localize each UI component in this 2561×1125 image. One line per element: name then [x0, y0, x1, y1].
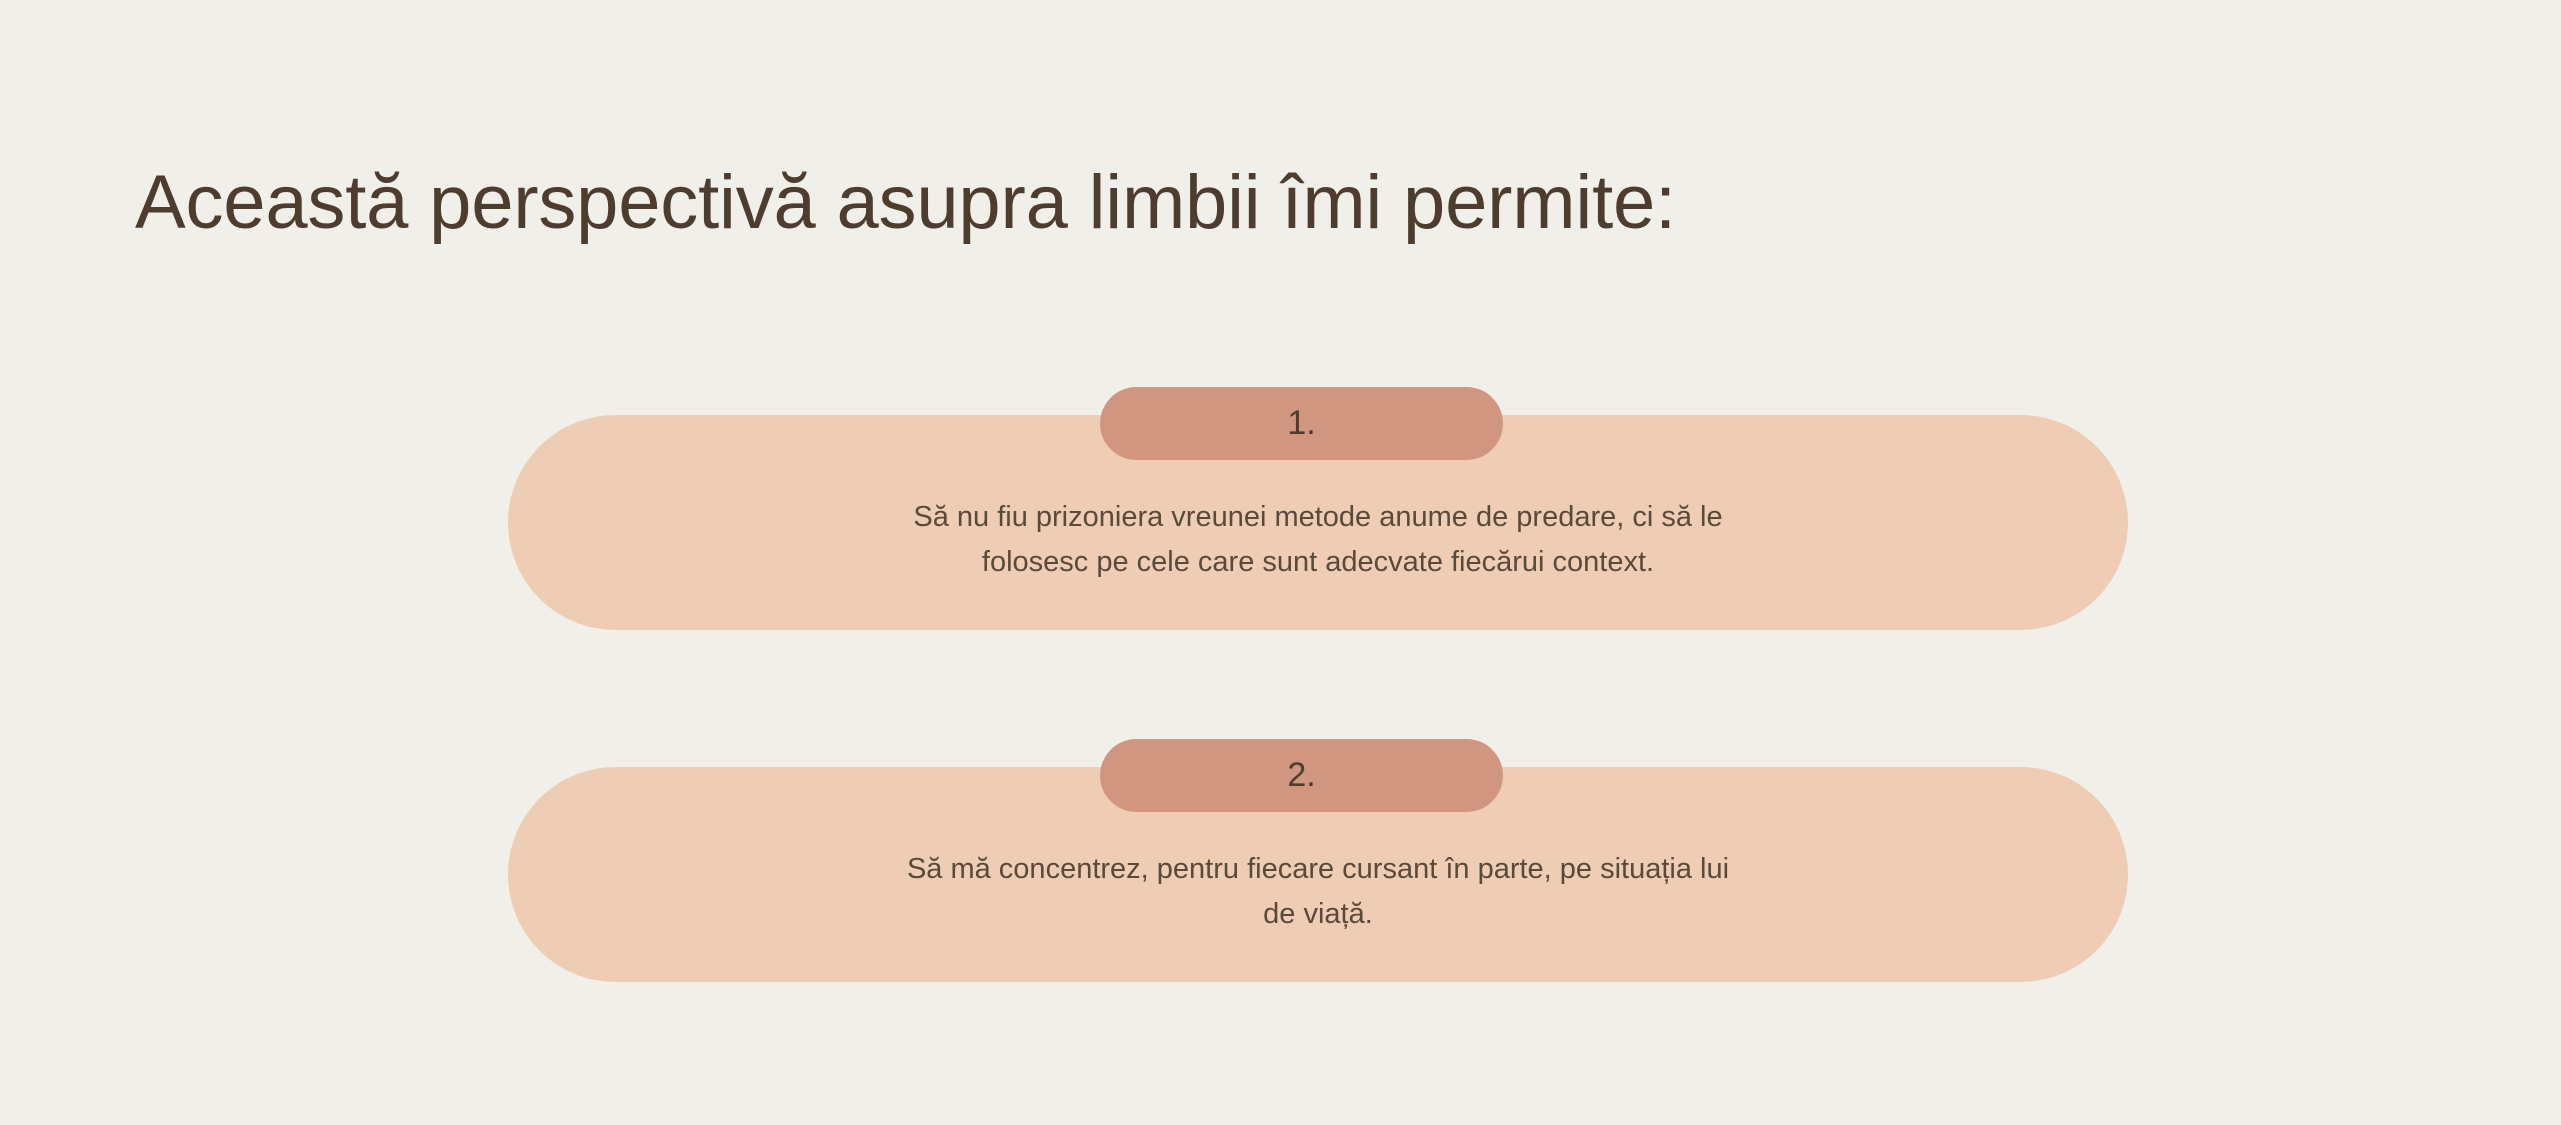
card-text-1: Să nu fiu prizoniera vreunei metode anum…	[788, 461, 1848, 583]
card-number-label-2: 2.	[1287, 758, 1315, 794]
numbered-card-list: Să nu fiu prizoniera vreunei metode anum…	[0, 0, 2561, 1125]
card-number-badge-2: 2.	[1100, 739, 1503, 812]
card-number-badge-1: 1.	[1100, 387, 1503, 460]
card-number-label-1: 1.	[1287, 406, 1315, 442]
card-text-2: Să mă concentrez, pentru fiecare cursant…	[788, 813, 1848, 935]
slide-canvas: Această perspectivă asupra limbii îmi pe…	[0, 0, 2561, 1125]
